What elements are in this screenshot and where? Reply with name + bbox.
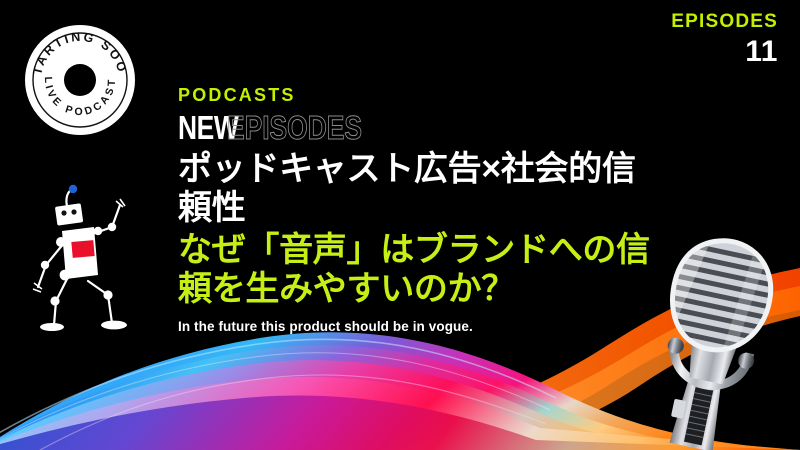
robot-illustration (28, 165, 153, 335)
page-title: ポッドキャスト広告×社会的信頼性 (178, 150, 648, 229)
page-subtitle: なぜ「音声」はブランドへの信頼を生みやすいのか？ (178, 231, 658, 310)
starting-soon-logo: STARTING SOON LIVE PODCAST (22, 22, 138, 138)
episodes-number: 11 (671, 37, 778, 67)
podcast-poster: STARTING SOON LIVE PODCAST (0, 0, 800, 450)
tagline: In the future this product should be in … (178, 319, 678, 334)
headline-episodes: EPISODES (227, 111, 362, 144)
episodes-label: EPISODES (671, 12, 778, 31)
content-block: PODCASTS NEW EPISODES ポッドキャスト広告×社会的信頼性 な… (178, 86, 678, 334)
kicker-label: PODCASTS (178, 86, 678, 104)
episode-corner: EPISODES 11 (671, 12, 778, 67)
headline-row: NEW EPISODES (178, 111, 678, 144)
